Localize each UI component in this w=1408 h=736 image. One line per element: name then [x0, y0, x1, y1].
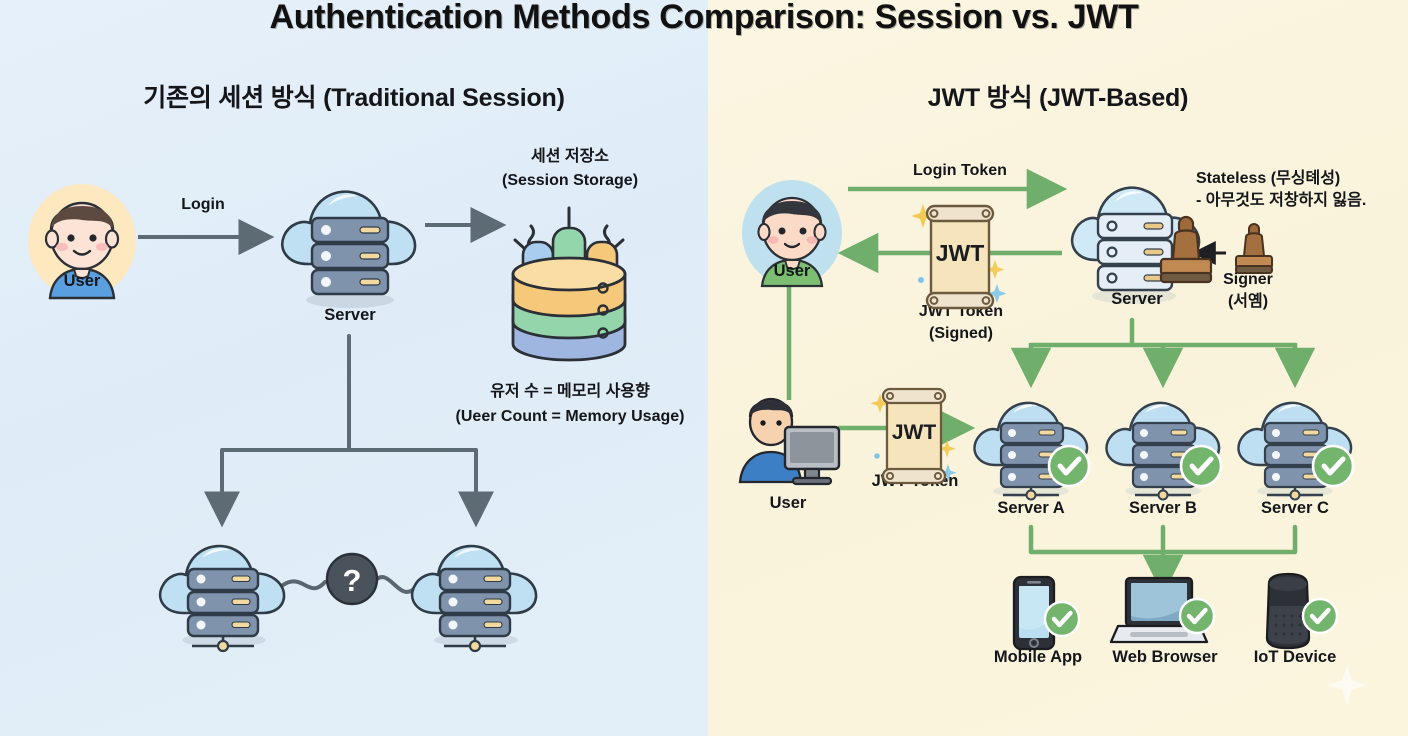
database-stack-icon — [495, 196, 643, 366]
jwt-scroll-bottom: JWT — [872, 382, 958, 490]
device-iot-label: IoT Device — [1232, 648, 1358, 667]
check-circle-icon — [1313, 446, 1353, 486]
cloud-server-icon — [272, 172, 428, 312]
device-mobile-label: Mobile App — [975, 648, 1101, 667]
scroll-token-icon: JWT — [872, 382, 958, 490]
left-user-label: User — [26, 272, 138, 291]
check-circle-icon — [1180, 599, 1214, 633]
left-server-label: Server — [272, 306, 428, 325]
left-panel-title: 기존의 세션 방식 (Traditional Session) — [0, 78, 708, 114]
stamp-small — [1232, 222, 1276, 278]
sparkle-icon — [1324, 662, 1370, 708]
cloud-server-icon — [402, 527, 550, 647]
check-circle-icon — [1181, 446, 1221, 486]
check-circle-icon — [1303, 599, 1337, 633]
session-storage-label-en: (Session Storage) — [440, 172, 700, 191]
jwt-badge-text: JWT — [936, 240, 985, 266]
stamp-icon — [1232, 222, 1276, 278]
session-storage-label-ko: 세션 저장소 — [440, 148, 700, 167]
mobile-phone-icon — [1000, 575, 1090, 651]
page-title: Authentication Methods Comparison: Sessi… — [0, 0, 1408, 37]
login-arrow-label: Login — [150, 196, 256, 215]
left-bottom-cloud-a — [150, 527, 298, 647]
session-storage-db — [495, 196, 643, 366]
question-mark-icon: ? — [325, 552, 379, 606]
cloud-server-icon — [150, 527, 298, 647]
stateless-note-line2: - 아무것도 저창하지 잃음. — [1196, 192, 1401, 211]
jwt-token-label-2: (Signed) — [885, 325, 1037, 344]
left-bottom-cloud-b — [402, 527, 550, 647]
smart-speaker-icon — [1252, 572, 1348, 652]
right-user-top-label: User — [740, 262, 844, 281]
check-circle-icon — [1045, 602, 1079, 636]
memory-note-ko: 유저 수 = 메모리 사용향 — [430, 383, 710, 402]
signer-label-ko: (서옘) — [1190, 293, 1306, 312]
server-c-label: Server C — [1229, 499, 1361, 518]
cloud-server-icon — [1229, 383, 1361, 499]
device-browser — [1112, 576, 1222, 650]
memory-note-en: (Ueer Count = Memory Usage) — [420, 408, 720, 427]
desktop-user-icon — [735, 390, 841, 490]
right-user-bottom-label: User — [735, 494, 841, 513]
device-mobile — [1000, 575, 1090, 651]
laptop-icon — [1112, 576, 1222, 650]
right-panel-title: JWT 방식 (JWT-Based) — [708, 78, 1408, 114]
server-b-label: Server B — [1097, 499, 1229, 518]
signer-label-en: Signer — [1190, 271, 1306, 290]
cloud-server-icon — [1097, 383, 1229, 499]
scroll-token-icon: JWT — [915, 198, 1007, 316]
device-browser-label: Web Browser — [1102, 648, 1228, 667]
check-circle-icon — [1049, 446, 1089, 486]
svg-text:JWT: JWT — [892, 421, 937, 444]
login-token-arrow-label: Login Token — [880, 162, 1040, 181]
stateless-note-line1: Stateless (무싱톄성) — [1196, 170, 1401, 189]
right-user-desktop — [735, 390, 841, 490]
server-b-node — [1097, 383, 1229, 499]
question-badge: ? — [325, 552, 379, 606]
server-c-node — [1229, 383, 1361, 499]
jwt-scroll-top: JWT — [915, 198, 1007, 316]
svg-text:?: ? — [343, 563, 362, 598]
server-a-label: Server A — [965, 499, 1097, 518]
device-iot — [1252, 572, 1348, 652]
left-cloud-server — [272, 172, 428, 312]
